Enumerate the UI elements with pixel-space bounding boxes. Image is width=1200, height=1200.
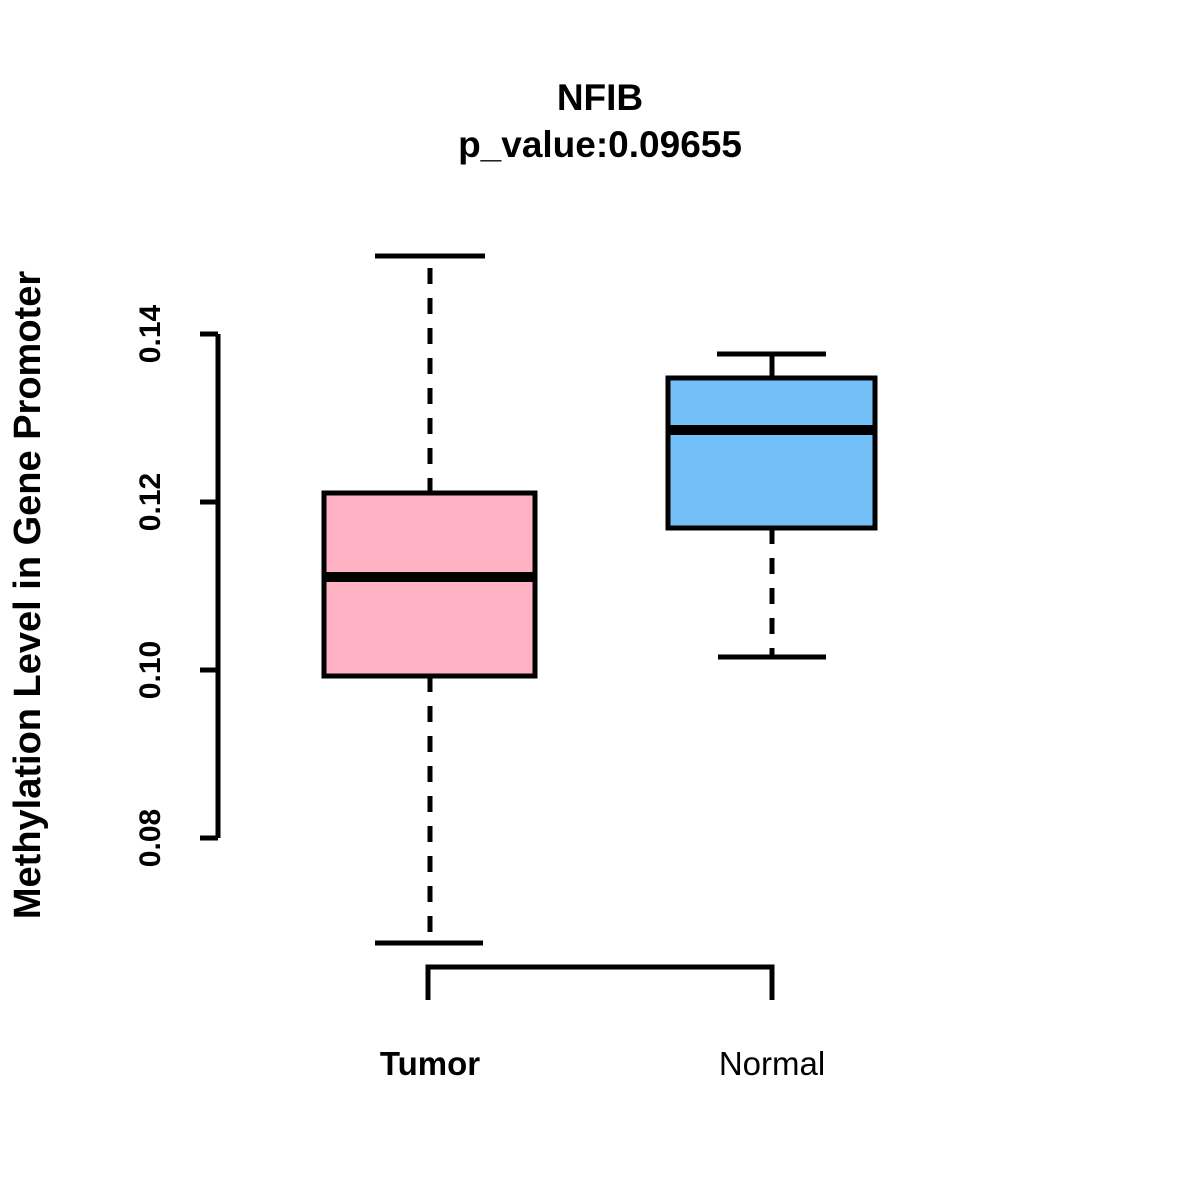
y-tick-label-0: 0.14 — [134, 304, 167, 363]
chart-title: NFIB — [557, 77, 643, 118]
x-tick-label-normal: Normal — [719, 1045, 825, 1082]
plot-background — [0, 0, 1200, 1200]
y-tick-label-3: 0.08 — [134, 809, 167, 867]
x-tick-label-tumor: Tumor — [380, 1045, 480, 1082]
y-tick-label-2: 0.10 — [134, 641, 167, 699]
boxplot-canvas: NFIB p_value:0.09655 Methylation Level i… — [0, 0, 1200, 1200]
boxplot-figure: NFIB p_value:0.09655 Methylation Level i… — [0, 0, 1200, 1200]
chart-subtitle-pvalue: p_value:0.09655 — [458, 124, 742, 165]
y-tick-label-1: 0.12 — [134, 473, 167, 531]
y-axis-label: Methylation Level in Gene Promoter — [7, 271, 49, 919]
box-tumor — [324, 493, 535, 676]
box-normal — [668, 378, 875, 528]
